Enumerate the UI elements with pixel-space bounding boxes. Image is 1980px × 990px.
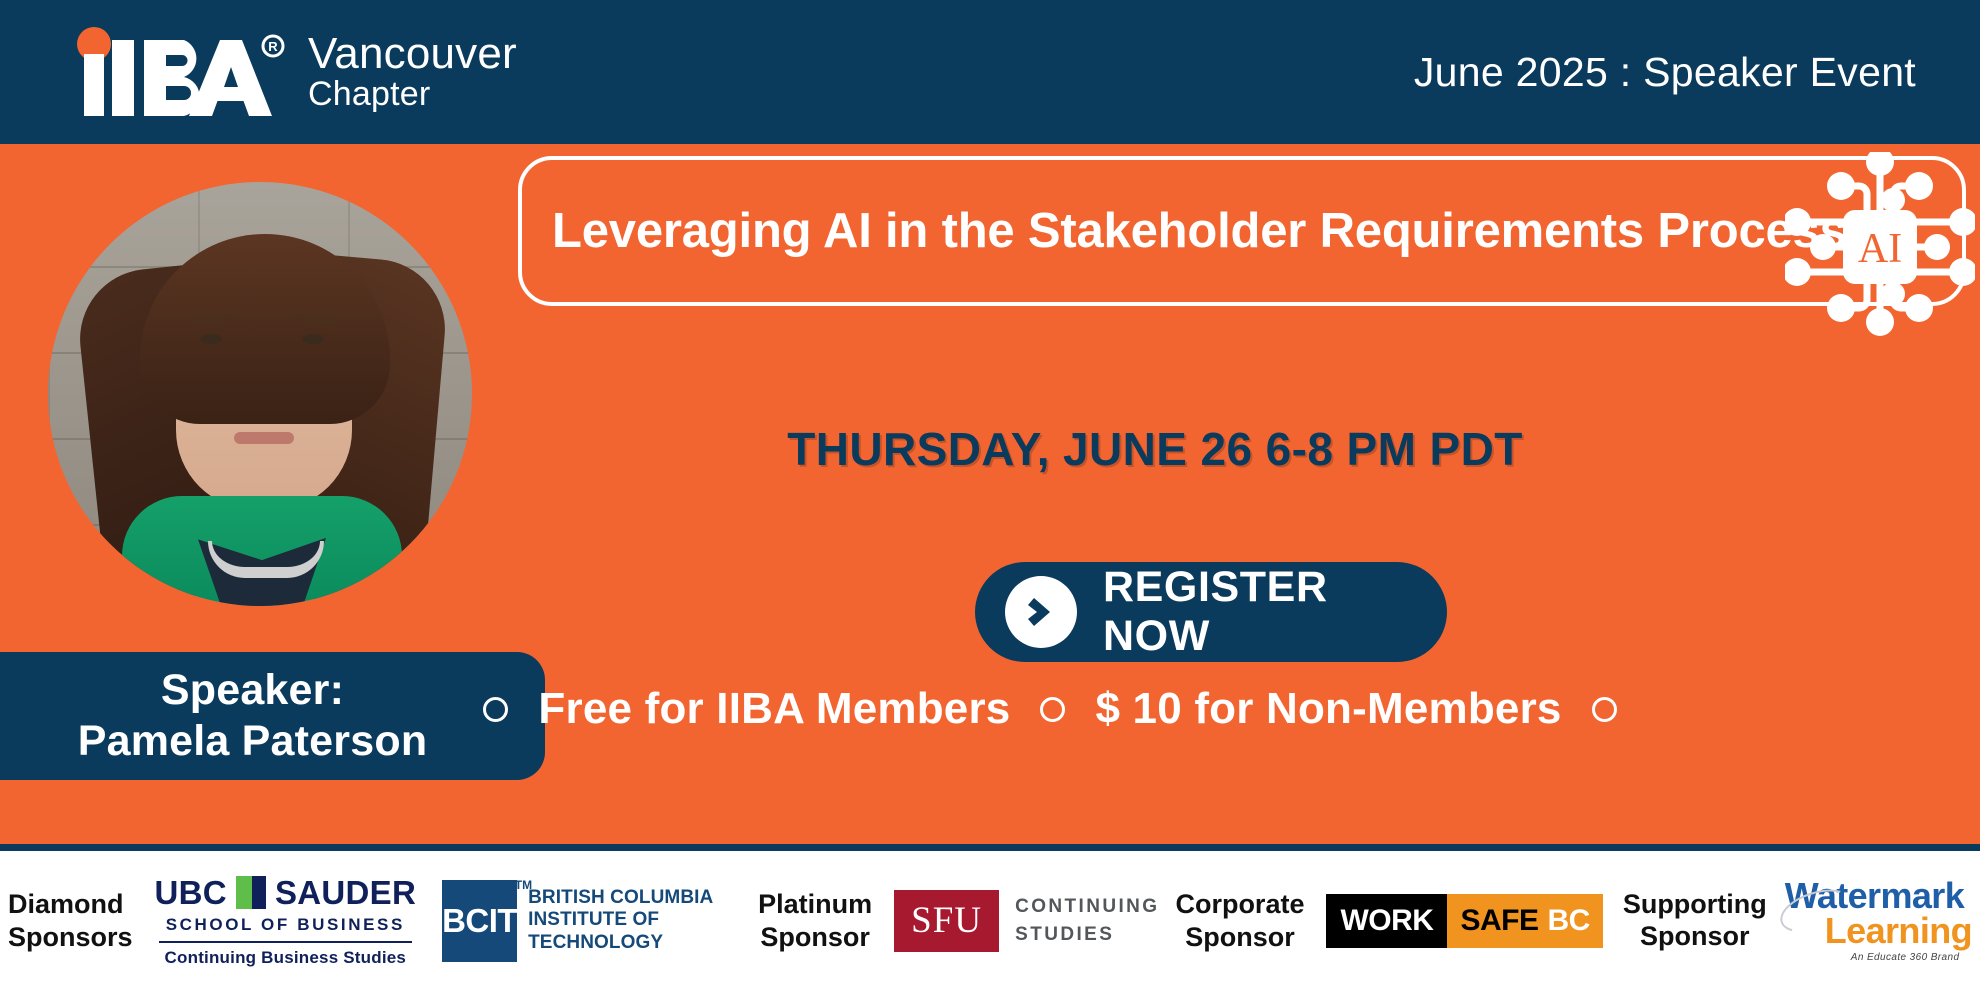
svg-text:R: R [268, 39, 278, 54]
bullet-icon [1592, 697, 1617, 722]
ubc-school-line: SCHOOL OF BUSINESS [155, 915, 417, 935]
ai-chip-label: AI [1858, 226, 1902, 272]
bcit-line-1: BRITISH COLUMBIA [528, 887, 738, 909]
ubc-sauder-wordmark: UBC SAUDER [155, 874, 417, 912]
iiba-logo-icon: R [60, 24, 290, 120]
bcit-name: BRITISH COLUMBIA INSTITUTE OF TECHNOLOGY [528, 887, 738, 954]
register-now-label: REGISTER NOW [1103, 563, 1447, 661]
worksafebc-bc-text: BC [1547, 904, 1589, 938]
photo-mouth [234, 432, 294, 444]
watermark-tagline: An Educate 360 Brand [1785, 952, 1972, 963]
sponsors-footer: Diamond Sponsors UBC SAUDER SCHOOL OF BU… [0, 851, 1980, 990]
poster-header: R Vancouver Chapter June 2025 : Speaker … [0, 0, 1980, 144]
speaker-avatar [48, 182, 472, 606]
supporting-tier-line-1: Supporting [1623, 888, 1767, 921]
speaker-label: Speaker: [161, 665, 344, 716]
chapter-line-1: Vancouver [308, 31, 517, 77]
footer-divider [0, 844, 1980, 851]
ubc-rule [159, 941, 413, 943]
brand-lockup: R Vancouver Chapter [60, 24, 517, 120]
worksafebc-safe-text: SAFE [1460, 904, 1538, 938]
diamond-sponsor-group: Diamond Sponsors UBC SAUDER SCHOOL OF BU… [8, 874, 738, 968]
sfu-name: CONTINUING STUDIES [1015, 893, 1159, 948]
corporate-tier-line-1: Corporate [1175, 888, 1304, 921]
bcit-logo: BCIT TM BRITISH COLUMBIA INSTITUTE OF TE… [442, 880, 738, 962]
sfu-mark: SFU [894, 890, 999, 952]
ubc-door-icon [236, 876, 266, 909]
sfu-line-1: CONTINUING [1015, 893, 1159, 921]
sfu-line-2: STUDIES [1015, 921, 1159, 949]
chapter-name: Vancouver Chapter [308, 31, 517, 112]
platinum-sponsor-group: Platinum Sponsor SFU CONTINUING STUDIES [758, 888, 1159, 954]
price-members: Free for IIBA Members [538, 684, 1010, 734]
poster-body: Speaker: Pamela Paterson Leveraging AI i… [0, 144, 1980, 844]
event-label: June 2025 : Speaker Event [1414, 49, 1936, 96]
supporting-sponsor-group: Supporting Sponsor Watermark Learning An… [1623, 878, 1972, 963]
worksafebc-logo: WORK SAFE BC [1326, 894, 1602, 948]
session-title: Leveraging AI in the Stakeholder Require… [522, 203, 1847, 259]
event-poster: R Vancouver Chapter June 2025 : Speaker … [0, 0, 1980, 990]
price-nonmembers: $ 10 for Non-Members [1095, 684, 1561, 734]
supporting-tier-label: Supporting Sponsor [1623, 888, 1767, 954]
ubc-word: UBC [155, 874, 227, 912]
sfu-logo: SFU CONTINUING STUDIES [894, 890, 1159, 952]
speaker-name: Pamela Paterson [78, 716, 428, 767]
diamond-tier-line-2: Sponsors [8, 921, 133, 954]
sauder-word: SAUDER [275, 874, 416, 912]
corporate-sponsor-group: Corporate Sponsor WORK SAFE BC [1175, 888, 1602, 954]
platinum-tier-line-1: Platinum [758, 888, 872, 921]
arrow-right-icon [1005, 576, 1077, 648]
bcit-tm: TM [515, 878, 532, 892]
bcit-line-2: INSTITUTE OF TECHNOLOGY [528, 909, 738, 954]
chapter-line-2: Chapter [308, 77, 517, 112]
platinum-tier-line-2: Sponsor [758, 921, 872, 954]
diamond-tier-label: Diamond Sponsors [8, 888, 133, 954]
register-now-button[interactable]: REGISTER NOW [975, 562, 1447, 662]
corporate-tier-label: Corporate Sponsor [1175, 888, 1304, 954]
bcit-mark-text: BCIT [442, 902, 517, 940]
platinum-tier-label: Platinum Sponsor [758, 888, 872, 954]
pricing-line: Free for IIBA Members $ 10 for Non-Membe… [400, 684, 1700, 734]
corporate-tier-line-2: Sponsor [1175, 921, 1304, 954]
watermark-learning-logo: Watermark Learning An Educate 360 Brand [1785, 878, 1972, 963]
bcit-mark: BCIT TM [442, 880, 517, 962]
speaker-photo [48, 182, 472, 606]
ai-chip-icon: AI [1785, 152, 1975, 342]
worksafebc-safebc: SAFE BC [1447, 894, 1602, 948]
worksafebc-work: WORK [1326, 894, 1447, 948]
ubc-sauder-logo: UBC SAUDER SCHOOL OF BUSINESS Continuing… [155, 874, 417, 968]
bullet-icon [483, 697, 508, 722]
ubc-tagline: Continuing Business Studies [155, 948, 417, 968]
sfu-mark-text: SFU [911, 899, 982, 942]
bullet-icon [1040, 697, 1065, 722]
session-title-box: Leveraging AI in the Stakeholder Require… [518, 156, 1966, 306]
diamond-tier-line-1: Diamond [8, 888, 133, 921]
photo-eye-left [200, 334, 222, 344]
supporting-tier-line-2: Sponsor [1623, 920, 1767, 953]
worksafebc-work-text: WORK [1340, 904, 1433, 938]
event-datetime: THURSDAY, JUNE 26 6-8 PM PDT [520, 422, 1790, 476]
photo-eye-right [302, 334, 324, 344]
